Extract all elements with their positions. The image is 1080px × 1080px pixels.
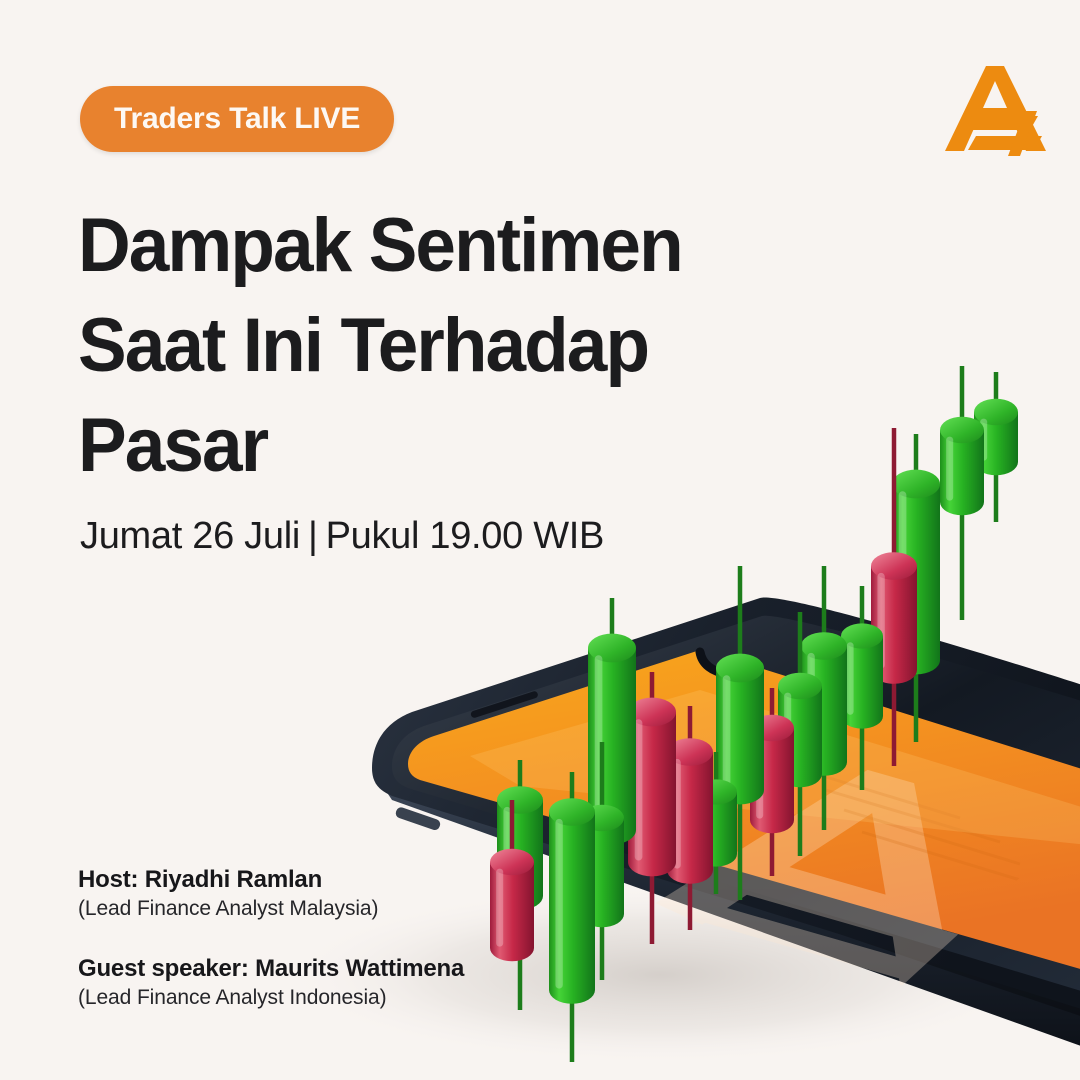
schedule-date: Jumat 26 Juli [80, 515, 300, 557]
headline-line-3: Pasar [78, 396, 808, 496]
guest-role: (Lead Finance Analyst Indonesia) [78, 986, 464, 1010]
guest-name: Guest speaker: Maurits Wattimena [78, 955, 464, 983]
live-badge[interactable]: Traders Talk LIVE [80, 86, 394, 152]
schedule-time: Pukul 19.00 WIB [326, 515, 605, 557]
headline-line-2: Saat Ini Terhadap [78, 296, 808, 396]
candle-highlight [723, 675, 731, 788]
credits-block: Host: Riyadhi Ramlan (Lead Finance Analy… [78, 866, 464, 1010]
headline-line-1: Dampak Sentimen [78, 196, 808, 296]
host-name: Host: Riyadhi Ramlan [78, 866, 464, 894]
brand-logo-icon [942, 56, 1052, 161]
candle-highlight [496, 869, 503, 947]
host-block: Host: Riyadhi Ramlan (Lead Finance Analy… [78, 866, 464, 921]
guest-block: Guest speaker: Maurits Wattimena (Lead F… [78, 955, 464, 1010]
page-title: Dampak Sentimen Saat Ini Terhadap Pasar [78, 196, 808, 496]
live-badge-label: Traders Talk LIVE [114, 102, 360, 136]
candle-highlight [847, 642, 854, 714]
schedule-line: Jumat 26 Juli|Pukul 19.00 WIB [80, 515, 604, 558]
host-role: (Lead Finance Analyst Malaysia) [78, 897, 464, 921]
candle [940, 366, 984, 620]
candle-highlight [555, 819, 562, 989]
schedule-separator: | [300, 515, 326, 557]
poster-canvas: Traders Talk LIVE Dampak Sentimen Saat I… [0, 0, 1080, 1080]
candle-highlight [946, 437, 953, 501]
